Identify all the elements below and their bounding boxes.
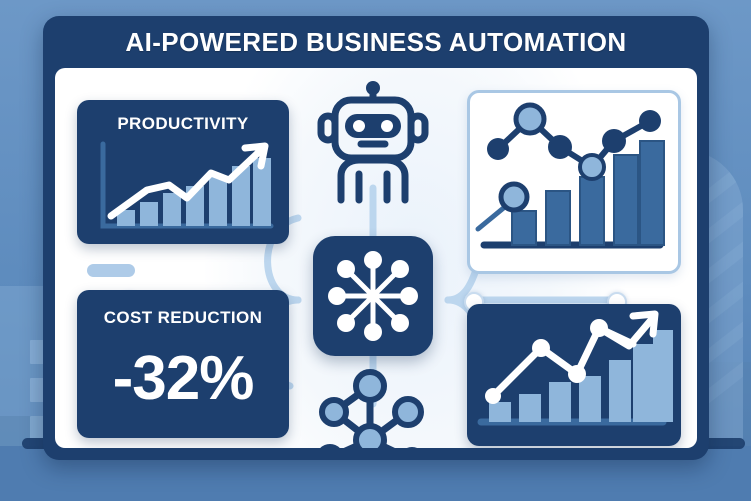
card-cost-reduction-label: COST REDUCTION [77, 308, 289, 328]
growth-chart [473, 310, 675, 440]
content-canvas: PRODUCTIVITY [55, 68, 697, 448]
main-panel: AI-POWERED BUSINESS AUTOMATION [43, 16, 709, 460]
infographic-canvas: AI-POWERED BUSINESS AUTOMATION [0, 0, 751, 501]
card-cost-reduction-value: -32% [77, 348, 289, 410]
card-productivity-label: PRODUCTIVITY [77, 114, 289, 134]
card-productivity[interactable]: PRODUCTIVITY [77, 100, 289, 244]
card-analytics[interactable] [467, 90, 681, 274]
analytics-chart [474, 97, 670, 263]
card-growth[interactable] [467, 304, 681, 446]
node-graph-icon [308, 368, 438, 448]
productivity-chart [95, 140, 277, 236]
network-hub-icon[interactable] [313, 236, 433, 356]
divider-pill-left [87, 264, 135, 277]
robot-icon [313, 78, 433, 204]
hub-spokes [313, 236, 433, 356]
title-bar: AI-POWERED BUSINESS AUTOMATION [43, 16, 709, 68]
page-title: AI-POWERED BUSINESS AUTOMATION [125, 27, 626, 58]
card-cost-reduction[interactable]: COST REDUCTION -32% [77, 290, 289, 438]
